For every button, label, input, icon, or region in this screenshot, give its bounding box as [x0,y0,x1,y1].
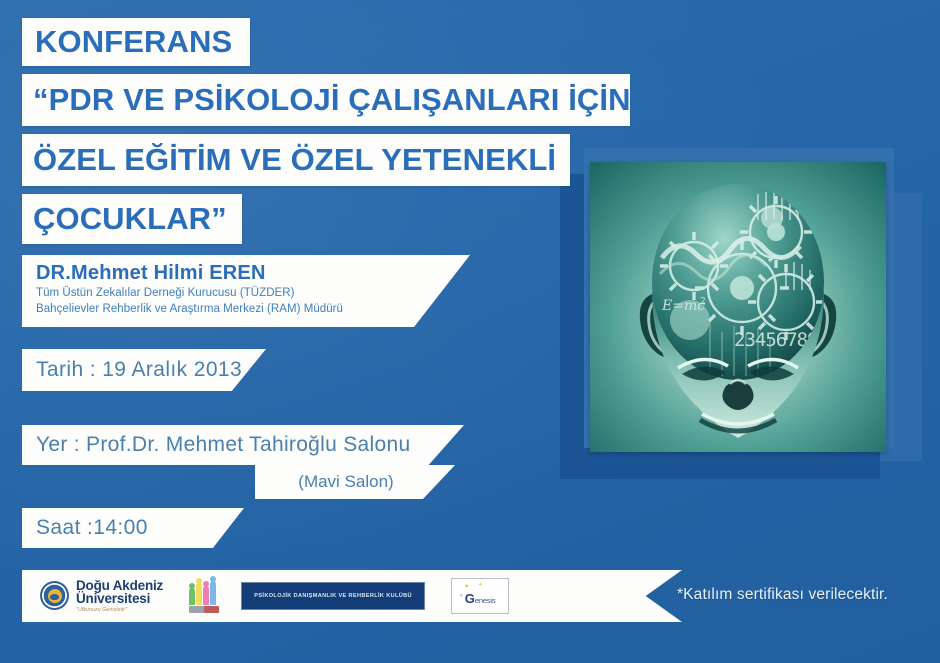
title-line-4: ÇOCUKLAR” [22,194,242,244]
venue-sub-banner: (Mavi Salon) [255,465,455,499]
title-line-1: KONFERANS [22,18,250,66]
certificate-note: *Katılım sertifikası verilecektir. [677,586,888,604]
date-text: Tarih : 19 Aralık 2013 [36,358,242,382]
speaker-affiliation-1: Tüm Üstün Zekalılar Derneği Kurucusu (TÜ… [36,285,470,301]
footer-logo-bar: Doğu Akdeniz Üniversitesi "Ufkunuzu Geni… [22,570,682,622]
time-banner: Saat :14:00 [22,508,244,548]
artwork-container: E=mc 2 234567890 [560,148,930,493]
speaker-name: DR.Mehmet Hilmi EREN [36,262,470,285]
figure-base-bar [189,606,219,613]
sparkle-icon-2: ✦ [478,582,482,588]
title-line-1-text: KONFERANS [35,24,232,60]
title-line-3: ÖZEL EĞİTİM VE ÖZEL YETENEKLİ [22,134,570,186]
university-tagline: "Ufkunuzu Genişletir" [76,608,163,613]
university-name-line-2: Üniversitesi [76,592,163,606]
venue-sub-text: (Mavi Salon) [298,472,393,492]
dogu-akdeniz-universitesi-logo: Doğu Akdeniz Üniversitesi "Ufkunuzu Geni… [40,579,163,614]
figure-blue-icon [210,581,216,605]
genesis-rest: enesis [475,596,495,605]
figure-pink-icon [203,586,209,605]
genesis-logo: ✦ ✦ ✦ G enesis [451,578,509,614]
speaker-banner: DR.Mehmet Hilmi EREN Tüm Üstün Zekalılar… [22,255,470,327]
figure-yellow-icon [196,583,202,605]
title-line-4-text: ÇOCUKLAR” [33,201,227,237]
psikolojik-danismanlik-kulubu-logo: PSİKOLOJİK DANIŞMANLIK VE REHBERLİK KULÜ… [241,582,425,610]
svg-text:2: 2 [700,297,706,307]
date-banner: Tarih : 19 Aralık 2013 [22,349,266,391]
conference-poster: E=mc 2 234567890 [0,0,940,663]
university-seal-icon [40,581,69,610]
renkli-figurler-logo [189,579,219,613]
venue-text: Yer : Prof.Dr. Mehmet Tahiroğlu Salonu [36,433,410,457]
sparkle-icon-3: ✦ [459,593,463,599]
title-line-2: “PDR VE PSİKOLOJİ ÇALIŞANLARI İÇİN [22,74,630,126]
svg-text:E=mc: E=mc [661,298,705,314]
sparkle-icon-1: ✦ [464,583,469,590]
genesis-initial: G [465,592,475,605]
speaker-affiliation-2: Bahçelievler Rehberlik ve Araştırma Merk… [36,301,470,317]
venue-banner: Yer : Prof.Dr. Mehmet Tahiroğlu Salonu [22,425,464,465]
club-label: PSİKOLOJİK DANIŞMANLIK VE REHBERLİK KULÜ… [254,593,412,599]
university-name-line-1: Doğu Akdeniz [76,579,163,593]
figure-green-icon [189,588,195,605]
title-line-2-text: “PDR VE PSİKOLOJİ ÇALIŞANLARI İÇİN [33,82,631,118]
time-text: Saat :14:00 [36,516,148,540]
mechanical-brain-image: E=mc 2 234567890 [590,162,886,452]
title-line-3-text: ÖZEL EĞİTİM VE ÖZEL YETENEKLİ [33,142,556,178]
